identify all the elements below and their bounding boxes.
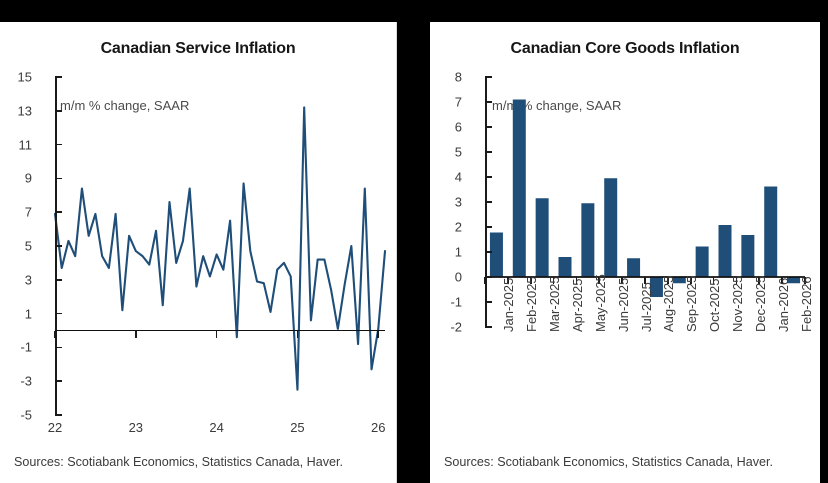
y-axis-labels-right: -2-1012345678 (430, 77, 462, 327)
x-tick-mark (377, 331, 379, 338)
x-axis-labels-right: Jan-2025Feb-2025Mar-2025Apr-2025May-2025… (485, 332, 805, 442)
zero-line-left (55, 330, 385, 332)
y-tick-label: 3 (455, 195, 462, 210)
x-tick-mark (297, 331, 299, 338)
y-tick-label: 5 (455, 145, 462, 160)
bar (696, 247, 709, 278)
bar (490, 233, 503, 278)
y-tick-label: 13 (18, 103, 32, 118)
page-title-left: Canadian Service Inflation (0, 40, 396, 58)
y-tick-mark (55, 279, 62, 281)
y-tick-mark (485, 326, 492, 328)
y-tick-label: -3 (20, 374, 32, 389)
y-tick-label: 0 (455, 270, 462, 285)
x-tick-label: Dec-2025 (753, 276, 768, 332)
y-tick-label: 3 (25, 272, 32, 287)
y-tick-mark (485, 151, 492, 153)
x-tick-mark (135, 331, 137, 338)
line-series-service (55, 77, 385, 415)
x-tick-label: Oct-2025 (707, 279, 722, 332)
x-tick-mark (216, 331, 218, 338)
y-tick-label: -1 (450, 295, 462, 310)
bar (719, 225, 732, 277)
y-tick-mark (485, 126, 492, 128)
y-tick-label: 1 (455, 245, 462, 260)
x-tick-label: Jan-2025 (501, 278, 516, 332)
x-tick-label: 25 (290, 420, 304, 435)
panel-service-inflation: Canadian Service Inflation m/m % change,… (0, 22, 397, 483)
y-tick-label: 5 (25, 239, 32, 254)
y-tick-mark (55, 313, 62, 315)
y-tick-mark (485, 276, 492, 278)
y-tick-label: 1 (25, 306, 32, 321)
y-tick-label: 9 (25, 171, 32, 186)
y-tick-mark (485, 301, 492, 303)
y-tick-mark (485, 251, 492, 253)
page-title-right: Canadian Core Goods Inflation (430, 40, 820, 58)
y-tick-mark (485, 201, 492, 203)
x-tick-mark (484, 277, 486, 284)
y-tick-mark (55, 178, 62, 180)
x-tick-label: 23 (129, 420, 143, 435)
x-tick-label: 24 (209, 420, 223, 435)
y-tick-label: 7 (455, 95, 462, 110)
y-tick-mark (55, 144, 62, 146)
bar (627, 258, 640, 277)
y-axis-labels-left: -5-3-113579111315 (0, 77, 32, 415)
x-tick-label: Apr-2025 (570, 279, 585, 332)
y-tick-label: -1 (20, 340, 32, 355)
y-tick-mark (485, 226, 492, 228)
x-tick-label: Feb-2026 (799, 276, 814, 332)
source-note-left: Sources: Scotiabank Economics, Statistic… (14, 454, 386, 471)
y-tick-label: 4 (455, 170, 462, 185)
y-tick-label: 15 (18, 70, 32, 85)
y-tick-mark (55, 211, 62, 213)
y-tick-label: -5 (20, 408, 32, 423)
y-tick-label: 8 (455, 70, 462, 85)
bar (604, 178, 617, 277)
x-tick-label: May-2025 (593, 274, 608, 332)
x-tick-label: Aug-2025 (661, 276, 676, 332)
y-tick-label: -2 (450, 320, 462, 335)
y-tick-mark (485, 101, 492, 103)
x-axis-labels-left: 2223242526 (55, 420, 385, 440)
x-tick-label: Nov-2025 (730, 276, 745, 332)
plot-area-service (55, 77, 385, 415)
y-tick-mark (55, 110, 62, 112)
y-tick-label: 2 (455, 220, 462, 235)
y-tick-label: 7 (25, 205, 32, 220)
x-tick-label: Jan-2026 (776, 278, 791, 332)
y-tick-mark (485, 176, 492, 178)
panel-core-goods-inflation: Canadian Core Goods Inflation m/m % chan… (430, 22, 820, 483)
x-tick-label: Mar-2025 (547, 276, 562, 332)
x-tick-label: Feb-2025 (524, 276, 539, 332)
x-tick-label: Jun-2025 (616, 278, 631, 332)
figure-container: Canadian Service Inflation m/m % change,… (0, 0, 828, 483)
bar (559, 257, 572, 277)
y-tick-mark (55, 347, 62, 349)
bar (536, 198, 549, 277)
y-tick-label: 6 (455, 120, 462, 135)
x-tick-mark (54, 331, 56, 338)
y-tick-mark (55, 245, 62, 247)
y-tick-mark (55, 414, 62, 416)
bar (513, 100, 526, 278)
x-tick-label: Sep-2025 (684, 276, 699, 332)
bar (764, 187, 777, 278)
y-tick-mark (485, 76, 492, 78)
x-tick-label: Jul-2025 (639, 282, 654, 332)
bar (581, 203, 594, 277)
y-tick-label: 11 (19, 137, 33, 152)
y-tick-mark (55, 380, 62, 382)
source-note-right: Sources: Scotiabank Economics, Statistic… (444, 454, 810, 471)
y-tick-mark (55, 76, 62, 78)
bar (741, 235, 754, 277)
x-tick-label: 26 (371, 420, 385, 435)
x-tick-label: 22 (48, 420, 62, 435)
